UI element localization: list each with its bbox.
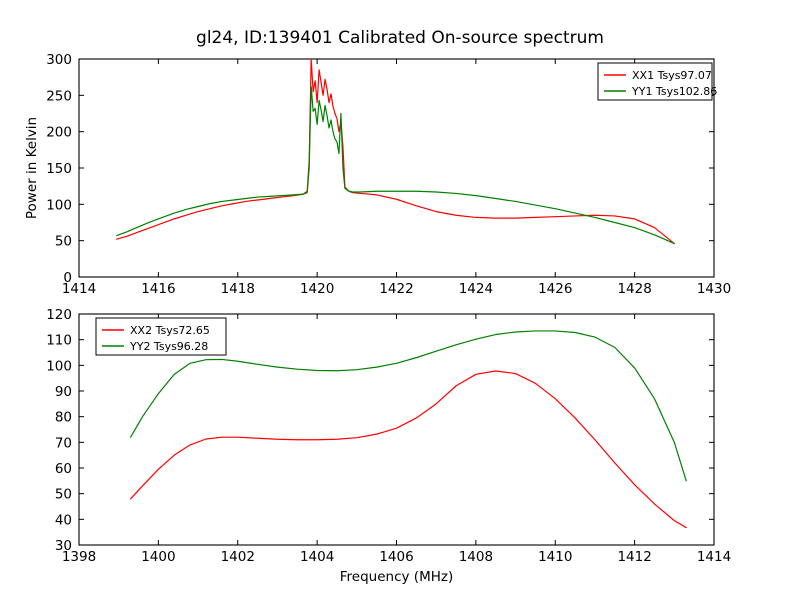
bottom-panel-axes: 1398140014021404140614081410141214143040… (0, 300, 800, 600)
x-tick-label: 1430 (697, 281, 731, 297)
y-tick-label: 80 (55, 410, 72, 426)
y-tick-label: 50 (55, 234, 72, 250)
data-layer (117, 59, 675, 244)
x-tick-label: 1420 (300, 281, 334, 297)
x-tick-label: 1418 (221, 281, 255, 297)
y-tick-label: 120 (46, 307, 72, 323)
top-panel-axes: 1414141614181420142214241426142814300501… (0, 0, 800, 300)
x-tick-label: 1400 (141, 549, 175, 565)
x-tick-label: 1422 (379, 281, 413, 297)
legend-label-1: XX2 Tsys72.65 (130, 324, 210, 337)
x-tick-label: 1408 (459, 549, 493, 565)
y-tick-label: 50 (55, 487, 72, 503)
x-tick-label: 1424 (459, 281, 493, 297)
x-tick-label: 1410 (538, 549, 572, 565)
y-tick-label: 90 (55, 384, 72, 400)
x-tick-label: 1404 (300, 549, 334, 565)
y-tick-label: 100 (46, 358, 72, 374)
x-tick-label: 1414 (697, 549, 731, 565)
y-tick-label: 110 (46, 333, 72, 349)
data-layer (131, 331, 687, 528)
matplotlib-figure: gl24, ID:139401 Calibrated On-source spe… (0, 0, 800, 600)
x-tick-label: 1406 (379, 549, 413, 565)
y-tick-label: 0 (63, 270, 72, 286)
y-tick-label: 250 (46, 88, 72, 104)
x-tick-label: 1416 (141, 281, 175, 297)
y-tick-label: 300 (46, 52, 72, 68)
x-axis-label: Frequency (MHz) (340, 569, 453, 585)
y-axis-label: Power in Kelvin (24, 117, 40, 219)
x-tick-label: 1402 (221, 549, 255, 565)
legend-label-2: YY2 Tsys96.28 (129, 340, 208, 353)
x-tick-label: 1412 (617, 549, 651, 565)
y-tick-label: 30 (55, 538, 72, 554)
y-tick-label: 150 (46, 161, 72, 177)
legend-label-1: XX1 Tsys97.07 (632, 69, 712, 82)
y-tick-label: 40 (55, 512, 72, 528)
x-tick-label: 1428 (617, 281, 651, 297)
y-tick-label: 100 (46, 197, 72, 213)
y-tick-label: 200 (46, 125, 72, 141)
y-tick-label: 70 (55, 435, 72, 451)
series-line-2 (117, 87, 675, 244)
legend-label-2: YY1 Tsys102.86 (631, 85, 717, 98)
x-tick-label: 1426 (538, 281, 572, 297)
series-line-1 (131, 371, 687, 528)
y-tick-label: 60 (55, 461, 72, 477)
